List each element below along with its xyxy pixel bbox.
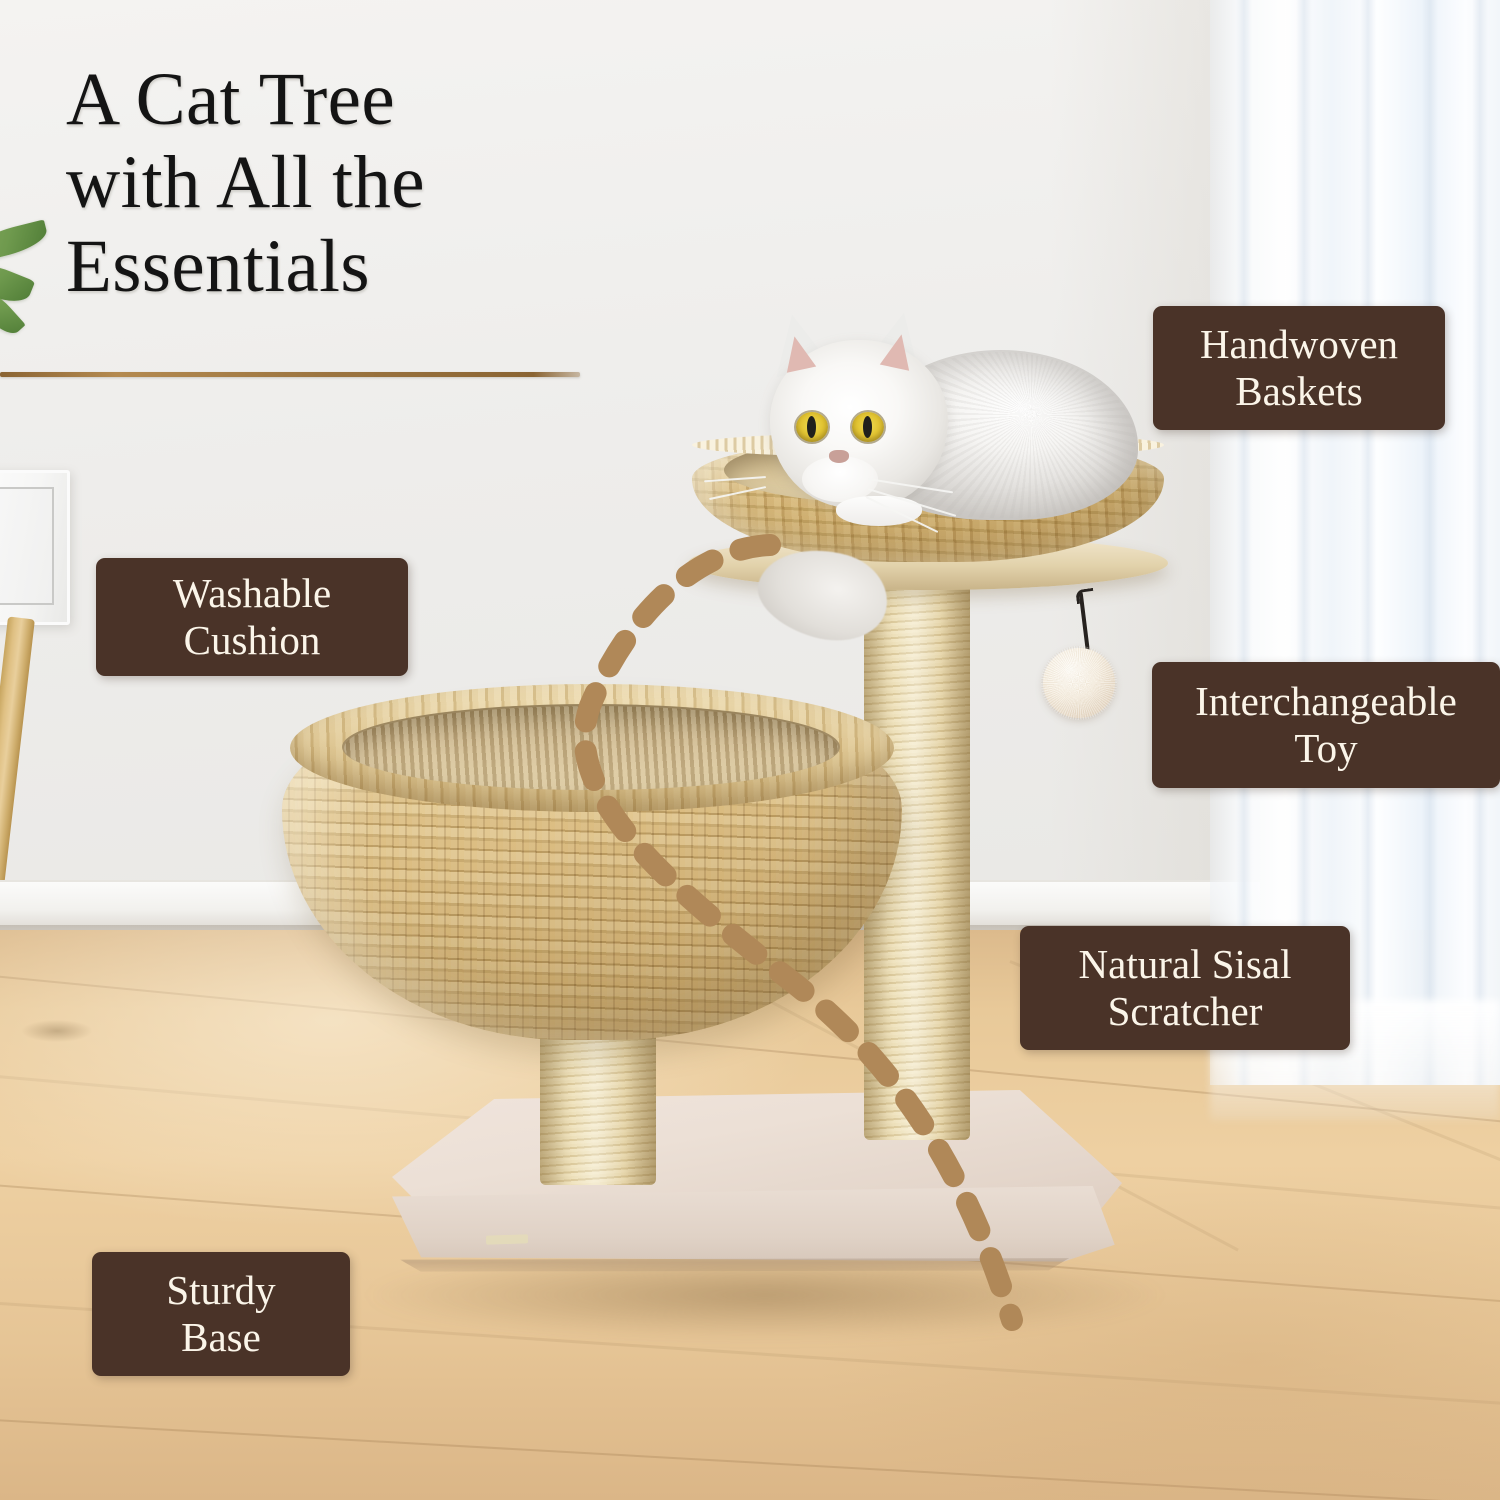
title-divider — [0, 372, 580, 377]
callout-handwoven-baskets[interactable]: Handwoven Baskets — [1153, 306, 1445, 430]
cabinet-panel — [0, 487, 54, 605]
page-title: A Cat Tree with All the Essentials — [66, 58, 586, 308]
cat — [740, 310, 1140, 580]
callout-washable-cushion[interactable]: Washable Cushion — [96, 558, 408, 676]
woven-bowl-basket — [282, 690, 902, 1050]
callout-natural-sisal-scratcher[interactable]: Natural Sisal Scratcher — [1020, 926, 1350, 1050]
curtain — [1210, 0, 1500, 1085]
cat-pupil-left — [807, 416, 816, 438]
cat-pupil-right — [863, 416, 872, 438]
headline-line-2: with All the — [66, 141, 586, 224]
cat-nose — [829, 450, 849, 463]
cabinet-leg-shadow — [22, 1020, 92, 1042]
sturdy-base-platform — [392, 1090, 1122, 1295]
callout-sturdy-base[interactable]: Sturdy Base — [92, 1252, 350, 1376]
fabric-tag — [486, 1234, 528, 1244]
headline-line-3: Essentials — [66, 225, 586, 308]
callout-interchangeable-toy[interactable]: Interchangeable Toy — [1152, 662, 1500, 788]
pom-pom-fuzz — [1041, 646, 1117, 720]
headline-line-1: A Cat Tree — [66, 58, 586, 141]
infographic-canvas: A Cat Tree with All the Essentials Handw… — [0, 0, 1500, 1500]
